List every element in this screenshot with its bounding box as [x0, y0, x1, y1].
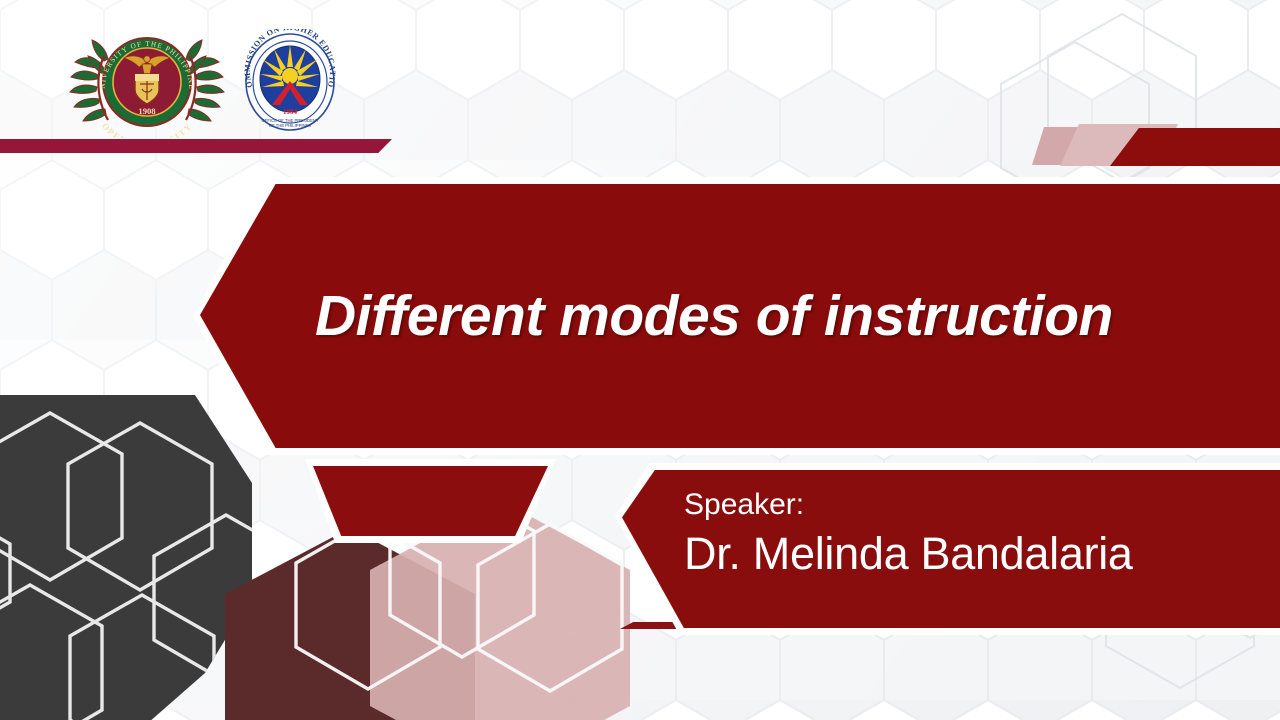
- title-banner: Different modes of instruction: [200, 184, 1280, 448]
- speaker-name: Dr. Melinda Bandalaria: [684, 527, 1280, 580]
- speaker-label: Speaker:: [684, 488, 1280, 523]
- up-open-university-seal-icon: UNIVERSITY OF THE PHILIPPINES OPEN UNIVE…: [62, 26, 232, 138]
- svg-text:1994: 1994: [283, 108, 298, 116]
- svg-text:OF THE PHILIPPINES: OF THE PHILIPPINES: [269, 123, 311, 128]
- top-left-accent-bar: [0, 139, 392, 153]
- page-title: Different modes of instruction: [315, 283, 1113, 349]
- title-slide: Different modes of instruction Speaker: …: [0, 0, 1280, 720]
- ched-seal-icon: COMMISSION ON HIGHER EDUCATION: [240, 29, 340, 135]
- mid-trapezoid: [313, 466, 548, 536]
- speaker-panel: Speaker: Dr. Melinda Bandalaria: [622, 470, 1280, 628]
- top-right-maroon-band: [1110, 128, 1280, 166]
- svg-text:1908: 1908: [138, 106, 156, 116]
- logo-group: UNIVERSITY OF THE PHILIPPINES OPEN UNIVE…: [62, 26, 340, 138]
